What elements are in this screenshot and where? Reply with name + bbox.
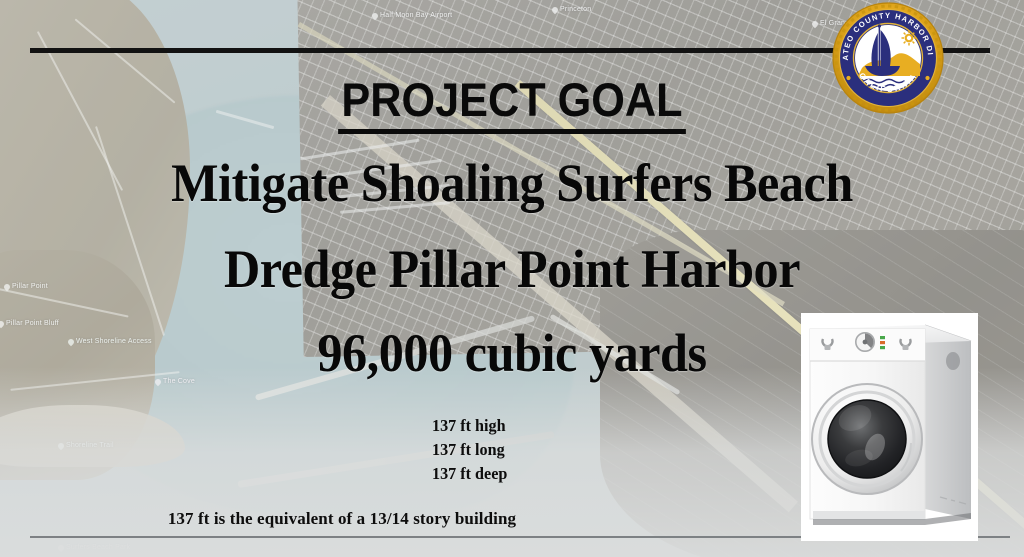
slide-title-text: PROJECT GOAL <box>338 76 687 134</box>
headline-line-2: Dredge Pillar Point Harbor <box>36 238 988 300</box>
dimension-list: 137 ft high 137 ft long 137 ft deep <box>432 414 507 486</box>
equivalence-note: 137 ft is the equivalent of a 13/14 stor… <box>0 509 1024 529</box>
dimension-depth: 137 ft deep <box>432 462 507 486</box>
dimension-length: 137 ft long <box>432 438 507 462</box>
slide-title: PROJECT GOAL <box>41 72 983 134</box>
dimension-height: 137 ft high <box>432 414 507 438</box>
headline-line-3: 96,000 cubic yards <box>36 322 988 384</box>
presentation-slide: Pillar PointPillar Point BluffWest Shore… <box>0 0 1024 557</box>
headline-line-1: Mitigate Shoaling Surfers Beach <box>36 152 988 214</box>
